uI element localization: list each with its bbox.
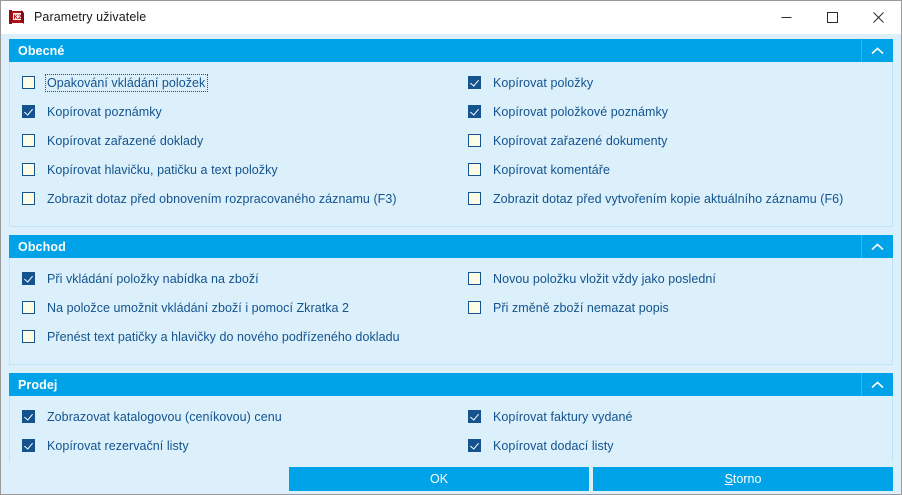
checkbox-row[interactable]: Přenést text patičky a hlavičky do novéh… (10, 322, 456, 351)
checkbox-label: Kopírovat položky (492, 75, 595, 91)
cancel-button-accel: S (725, 472, 733, 486)
checkbox-label: Kopírovat zařazené doklady (46, 133, 205, 149)
group-title: Obchod (9, 240, 66, 254)
chevron-up-icon[interactable] (861, 39, 893, 62)
checkbox-label: Opakování vkládání položek (46, 75, 207, 91)
chevron-up-icon[interactable] (861, 235, 893, 258)
group-title: Prodej (9, 378, 58, 392)
cancel-button[interactable]: Storno (593, 467, 893, 491)
ok-button[interactable]: OK (289, 467, 589, 491)
checkbox-indicator[interactable] (468, 410, 481, 423)
checkbox-row[interactable]: Kopírovat zařazené doklady (10, 126, 456, 155)
group-obecne: Obecné Opakování vkládání položek Kopíro… (9, 34, 893, 227)
checkbox-label: Kopírovat položkové poznámky (492, 104, 670, 120)
checkbox-indicator[interactable] (22, 76, 35, 89)
checkbox-row[interactable]: Kopírovat poznámky (10, 97, 456, 126)
checkbox-indicator[interactable] (468, 192, 481, 205)
close-icon[interactable] (855, 1, 901, 33)
checkbox-row[interactable]: Při změně zboží nemazat popis (456, 293, 892, 322)
checkbox-indicator[interactable] (22, 330, 35, 343)
group-obchod-left-column: Při vkládání položky nabídka na zboží Na… (10, 264, 456, 351)
checkbox-row[interactable]: Novou položku vložit vždy jako poslední (456, 264, 892, 293)
checkbox-indicator[interactable] (468, 76, 481, 89)
checkbox-label: Kopírovat poznámky (46, 104, 164, 120)
checkbox-indicator[interactable] (468, 301, 481, 314)
k2-app-icon: K2 (8, 9, 25, 25)
group-header-obchod: Obchod (9, 235, 893, 258)
group-obecne-left-column: Opakování vkládání položek Kopírovat poz… (10, 68, 456, 213)
checkbox-label: Kopírovat dodací listy (492, 438, 616, 454)
group-obchod-right-column: Novou položku vložit vždy jako poslední … (456, 264, 892, 351)
checkbox-row[interactable]: Kopírovat rezervační listy (10, 431, 456, 460)
chevron-up-icon[interactable] (861, 373, 893, 396)
checkbox-row[interactable]: Zobrazit dotaz před vytvořením kopie akt… (456, 184, 892, 213)
settings-content: Obecné Opakování vkládání položek Kopíro… (1, 34, 901, 465)
checkbox-indicator[interactable] (22, 410, 35, 423)
checkbox-label: Při změně zboží nemazat popis (492, 300, 671, 316)
checkbox-label: Kopírovat komentáře (492, 162, 612, 178)
group-header-obecne: Obecné (9, 39, 893, 62)
checkbox-row[interactable]: Kopírovat položky (456, 68, 892, 97)
checkbox-row[interactable]: Na položce umožnit vkládání zboží i pomo… (10, 293, 456, 322)
checkbox-indicator[interactable] (22, 439, 35, 452)
group-body-obecne: Opakování vkládání položek Kopírovat poz… (9, 62, 893, 227)
group-obchod: Obchod Při vkládání položky nabídka na z… (9, 235, 893, 365)
checkbox-label: Novou položku vložit vždy jako poslední (492, 271, 718, 287)
checkbox-label: Na položce umožnit vkládání zboží i pomo… (46, 300, 351, 316)
checkbox-indicator[interactable] (22, 272, 35, 285)
checkbox-indicator[interactable] (22, 192, 35, 205)
checkbox-row[interactable]: Zobrazovat katalogovou (ceníkovou) cenu (10, 402, 456, 431)
checkbox-indicator[interactable] (468, 439, 481, 452)
checkbox-label: Při vkládání položky nabídka na zboží (46, 271, 261, 287)
checkbox-label: Zobrazovat katalogovou (ceníkovou) cenu (46, 409, 284, 425)
svg-text:K2: K2 (14, 15, 22, 21)
checkbox-row[interactable]: Kopírovat faktury vydané (456, 402, 892, 431)
checkbox-label: Kopírovat faktury vydané (492, 409, 634, 425)
maximize-icon[interactable] (809, 1, 855, 33)
title-bar: K2 Parametry uživatele (1, 1, 901, 34)
window-controls (763, 1, 901, 33)
window-title: Parametry uživatele (34, 10, 146, 24)
checkbox-row[interactable]: Kopírovat položkové poznámky (456, 97, 892, 126)
cancel-button-label: torno (733, 472, 762, 486)
dialog-footer: OK Storno (1, 462, 901, 494)
checkbox-label: Kopírovat rezervační listy (46, 438, 191, 454)
group-body-obchod: Při vkládání položky nabídka na zboží Na… (9, 258, 893, 365)
checkbox-indicator[interactable] (22, 134, 35, 147)
group-header-prodej: Prodej (9, 373, 893, 396)
parametry-uzivatele-window: K2 Parametry uživatele O (0, 0, 902, 495)
checkbox-row[interactable]: Opakování vkládání položek (10, 68, 456, 97)
checkbox-label: Zobrazit dotaz před obnovením rozpracova… (46, 191, 399, 207)
checkbox-row[interactable]: Zobrazit dotaz před obnovením rozpracova… (10, 184, 456, 213)
checkbox-indicator[interactable] (468, 163, 481, 176)
checkbox-label: Kopírovat hlavičku, patičku a text polož… (46, 162, 280, 178)
checkbox-indicator[interactable] (468, 134, 481, 147)
checkbox-label: Kopírovat zařazené dokumenty (492, 133, 669, 149)
checkbox-row[interactable]: Kopírovat komentáře (456, 155, 892, 184)
checkbox-row[interactable]: Kopírovat zařazené dokumenty (456, 126, 892, 155)
checkbox-label: Zobrazit dotaz před vytvořením kopie akt… (492, 191, 845, 207)
checkbox-indicator[interactable] (468, 105, 481, 118)
checkbox-indicator[interactable] (22, 163, 35, 176)
group-title: Obecné (9, 44, 64, 58)
ok-button-label: OK (430, 472, 448, 486)
checkbox-row[interactable]: Kopírovat hlavičku, patičku a text polož… (10, 155, 456, 184)
checkbox-row[interactable]: Kopírovat dodací listy (456, 431, 892, 460)
checkbox-indicator[interactable] (468, 272, 481, 285)
checkbox-indicator[interactable] (22, 105, 35, 118)
checkbox-indicator[interactable] (22, 301, 35, 314)
checkbox-label: Přenést text patičky a hlavičky do novéh… (46, 329, 402, 345)
minimize-icon[interactable] (763, 1, 809, 33)
checkbox-row[interactable]: Při vkládání položky nabídka na zboží (10, 264, 456, 293)
group-obecne-right-column: Kopírovat položky Kopírovat položkové po… (456, 68, 892, 213)
